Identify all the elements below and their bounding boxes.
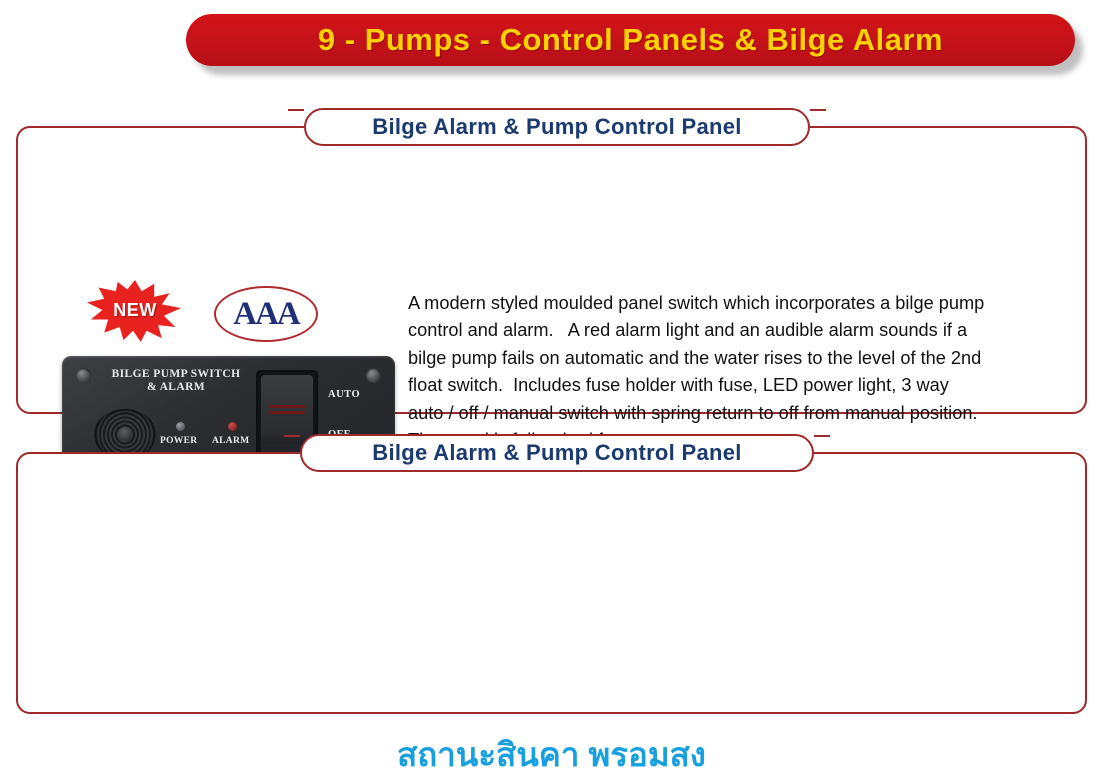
alarm-led-indicator (228, 422, 237, 431)
page-title: 9 - Pumps - Control Panels & Bilge Alarm (318, 22, 943, 58)
page-title-banner: 9 - Pumps - Control Panels & Bilge Alarm (186, 14, 1083, 69)
product-card-2: Bilge Alarm & Pump Control Panel AAA BIL… (16, 452, 1087, 714)
product-1-title: Bilge Alarm & Pump Control Panel (372, 114, 741, 140)
new-badge: NEW (87, 280, 183, 342)
header-stub-left-2 (284, 435, 300, 437)
header-stub-right (810, 109, 826, 111)
switch-label-auto: AUTO (328, 389, 360, 400)
product-2-header-pill: Bilge Alarm & Pump Control Panel (300, 434, 814, 472)
rocker-line-upper (269, 405, 305, 408)
new-badge-label: NEW (87, 300, 183, 321)
footer-status-text: สถานะสินคา พรอมสง (0, 728, 1103, 779)
header-stub-right-2 (814, 435, 830, 437)
panel-1-label: BILGE PUMP SWITCH & ALARM (84, 368, 268, 394)
screw-top-right (366, 368, 381, 383)
alarm-led-label: ALARM (212, 436, 249, 446)
catalog-page: 9 - Pumps - Control Panels & Bilge Alarm… (0, 0, 1103, 779)
product-1-header-pill: Bilge Alarm & Pump Control Panel (304, 108, 810, 146)
aaa-logo-text: AAA (214, 286, 318, 342)
power-led-indicator (176, 422, 185, 431)
product-2-title: Bilge Alarm & Pump Control Panel (372, 440, 741, 466)
panel-1-label-line1: BILGE PUMP SWITCH (84, 368, 268, 381)
header-stub-left (288, 109, 304, 111)
aaa-brand-logo: AAA (214, 286, 318, 342)
power-led-label: POWER (160, 436, 197, 446)
product-card-1: Bilge Alarm & Pump Control Panel BILGE P… (16, 126, 1087, 414)
panel-1-label-line2: & ALARM (84, 381, 268, 394)
rocker-line-lower (269, 411, 305, 414)
banner-body: 9 - Pumps - Control Panels & Bilge Alarm (186, 14, 1075, 66)
